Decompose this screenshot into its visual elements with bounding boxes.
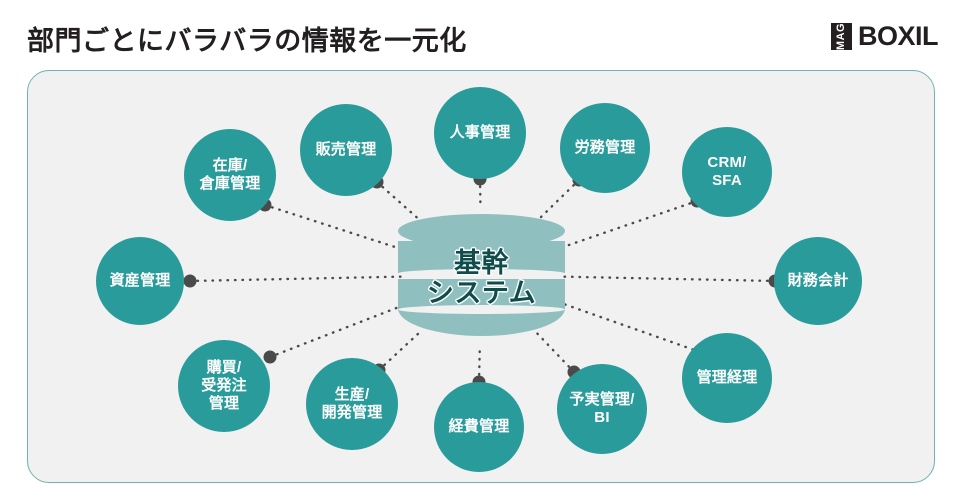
node-label-production: 生産/ 開発管理 — [322, 386, 383, 421]
node-label-assets: 資産管理 — [110, 272, 171, 290]
node-label-hr: 人事管理 — [450, 124, 511, 142]
node-label-inventory: 在庫/ 倉庫管理 — [200, 157, 261, 192]
node-crm[interactable]: CRM/ SFA — [682, 127, 772, 217]
core-system-label: 基幹 システム — [398, 248, 565, 308]
node-label-expense: 経費管理 — [449, 418, 510, 436]
node-purchasing[interactable]: 購買/ 受発注 管理 — [178, 340, 270, 432]
core-system-cylinder: 基幹 システム — [398, 214, 565, 336]
slide-header: 部門ごとにバラバラの情報を一元化 MAG BOXIL — [0, 0, 960, 70]
node-inventory[interactable]: 在庫/ 倉庫管理 — [184, 129, 276, 221]
node-label-purchasing: 購買/ 受発注 管理 — [201, 359, 247, 412]
node-finance[interactable]: 財務会計 — [774, 237, 862, 325]
node-label-labor: 労務管理 — [575, 139, 636, 157]
node-mgmt-acct[interactable]: 管理経理 — [682, 333, 772, 423]
node-expense[interactable]: 経費管理 — [434, 382, 524, 472]
node-assets[interactable]: 資産管理 — [96, 237, 184, 325]
node-sales[interactable]: 販売管理 — [300, 104, 392, 196]
node-labor[interactable]: 労務管理 — [560, 103, 650, 193]
node-production[interactable]: 生産/ 開発管理 — [306, 358, 398, 450]
page-title: 部門ごとにバラバラの情報を一元化 — [27, 19, 467, 58]
slide-canvas: 部門ごとにバラバラの情報を一元化 MAG BOXIL 在庫/ 倉庫管理販売管理人… — [0, 0, 960, 504]
mag-badge-icon: MAG — [831, 23, 852, 50]
node-label-finance: 財務会計 — [788, 272, 849, 290]
node-label-budget-bi: 予実管理/ BI — [569, 391, 634, 426]
boxil-wordmark: BOXIL — [858, 23, 938, 50]
node-hr[interactable]: 人事管理 — [434, 87, 526, 179]
node-label-sales: 販売管理 — [316, 141, 377, 159]
cylinder-top-ellipse — [398, 214, 565, 248]
node-label-mgmt-acct: 管理経理 — [697, 369, 758, 387]
boxil-mag-logo: MAG BOXIL — [831, 21, 938, 51]
node-label-crm: CRM/ SFA — [707, 154, 746, 189]
mag-badge-label: MAG — [836, 22, 847, 49]
node-budget-bi[interactable]: 予実管理/ BI — [557, 364, 647, 454]
